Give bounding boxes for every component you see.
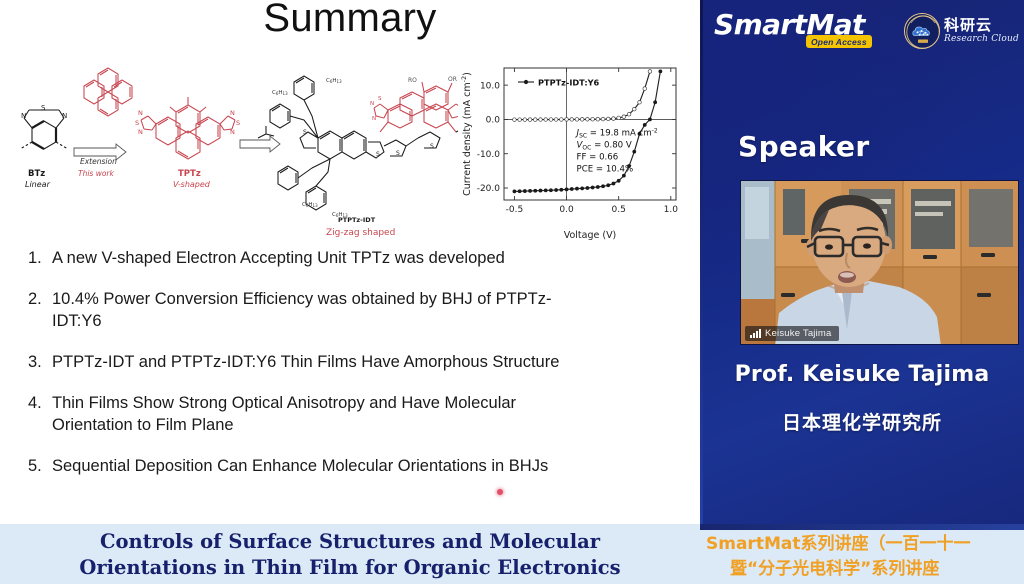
scheme-sublabel-btz: Linear bbox=[25, 180, 51, 189]
bullet-text: Sequential Deposition Can Enhance Molecu… bbox=[52, 456, 673, 478]
bottom-banner: Controls of Surface Structures and Molec… bbox=[0, 524, 1024, 584]
bullet-number: 2. bbox=[28, 289, 52, 311]
banner-accent-bar bbox=[700, 524, 1024, 530]
bullet-text: A new V-shaped Electron Accepting Unit T… bbox=[52, 248, 673, 270]
smartmat-logo: SmartMat Open Access bbox=[714, 8, 892, 54]
research-cloud-en-text: Research Cloud bbox=[944, 34, 1019, 44]
svg-text:-0.5: -0.5 bbox=[506, 205, 524, 215]
svg-text:N: N bbox=[230, 109, 235, 117]
speaker-affiliation: 日本理化学研究所 bbox=[700, 408, 1024, 435]
scheme-label-tptz: TPTz bbox=[178, 169, 201, 179]
scheme-sublabel-extension: This work bbox=[78, 169, 115, 178]
svg-text:0.5: 0.5 bbox=[612, 205, 626, 215]
series-title: SmartMat系列讲座（一百一十一 暨“分子光电科学”系列讲座 bbox=[700, 532, 1024, 581]
svg-text:1.0: 1.0 bbox=[664, 205, 679, 215]
broadcast-layout: Summary N N S bbox=[0, 0, 1024, 584]
svg-text:C6H13: C6H13 bbox=[332, 212, 348, 218]
bullet-text: Thin Films Show Strong Optical Anisotrop… bbox=[52, 393, 592, 437]
chart-y-axis-label: Current density (mA cm-2) bbox=[460, 72, 473, 196]
svg-text:0.0: 0.0 bbox=[559, 205, 574, 215]
svg-text:S: S bbox=[303, 129, 307, 136]
video-participant-name: Keisuke Tajima bbox=[765, 328, 832, 339]
svg-text:N: N bbox=[370, 101, 374, 107]
list-item: 4. Thin Films Show Strong Optical Anisot… bbox=[28, 393, 673, 437]
svg-text:S: S bbox=[430, 143, 434, 150]
scheme-label-extension: Extension bbox=[80, 157, 117, 166]
series-title-line2: 暨“分子光电科学”系列讲座 bbox=[700, 557, 1024, 582]
speaker-heading: Speaker bbox=[738, 130, 870, 163]
list-item: 2. 10.4% Power Conversion Efficiency was… bbox=[28, 289, 673, 333]
cloud-network-icon bbox=[904, 13, 940, 49]
svg-text:C6H13: C6H13 bbox=[326, 78, 342, 84]
svg-text:N: N bbox=[21, 112, 26, 120]
svg-text:S: S bbox=[236, 119, 240, 127]
open-access-badge: Open Access bbox=[806, 35, 872, 48]
svg-text:C6H13: C6H13 bbox=[302, 202, 318, 208]
svg-text:N: N bbox=[230, 128, 235, 136]
bullet-number: 3. bbox=[28, 352, 52, 374]
list-item: 3. PTPTz-IDT and PTPTz-IDT:Y6 Thin Films… bbox=[28, 352, 673, 374]
scheme-sublabel-ptptz-idt: Zig-zag shaped bbox=[326, 228, 395, 238]
scheme-label-btz: BTz bbox=[28, 169, 45, 179]
lecture-title-line1: Controls of Surface Structures and Molec… bbox=[100, 530, 600, 553]
svg-text:N: N bbox=[138, 128, 143, 136]
lecture-title-line2: Orientations in Thin Film for Organic El… bbox=[0, 555, 700, 581]
svg-text:S: S bbox=[376, 151, 380, 158]
svg-text:-10.0: -10.0 bbox=[477, 150, 501, 160]
laser-pointer-dot bbox=[497, 489, 503, 495]
page-title: Summary bbox=[0, 0, 700, 41]
video-participant-name-label: Keisuke Tajima bbox=[745, 326, 839, 341]
list-item: 5. Sequential Deposition Can Enhance Mol… bbox=[28, 456, 673, 478]
svg-text:10.0: 10.0 bbox=[480, 81, 500, 91]
reaction-scheme-figure: N N S bbox=[8, 58, 458, 238]
series-title-line1: SmartMat系列讲座（一百一十一 bbox=[700, 532, 1024, 557]
research-cloud-cn-text: 科研云 bbox=[944, 18, 1019, 34]
summary-bullet-list: 1. A new V-shaped Electron Accepting Uni… bbox=[28, 248, 673, 497]
svg-text:PTPTz-IDT:Y6: PTPTz-IDT:Y6 bbox=[538, 77, 600, 87]
svg-text:RO: RO bbox=[408, 77, 417, 84]
bullet-number: 5. bbox=[28, 456, 52, 478]
list-item: 1. A new V-shaped Electron Accepting Uni… bbox=[28, 248, 673, 270]
bullet-text: PTPTz-IDT and PTPTz-IDT:Y6 Thin Films Ha… bbox=[52, 352, 673, 374]
scheme-sublabel-tptz: V-shaped bbox=[173, 180, 211, 189]
svg-text:JSC = 19.8 mA cm-2: JSC = 19.8 mA cm-2 bbox=[575, 127, 658, 139]
svg-text:S: S bbox=[135, 119, 139, 127]
research-cloud-logo: 科研云 Research Cloud bbox=[904, 13, 1019, 49]
svg-text:N: N bbox=[62, 112, 67, 120]
svg-text:OR: OR bbox=[448, 76, 457, 83]
presentation-slide: Summary N N S bbox=[0, 0, 700, 524]
svg-text:S: S bbox=[41, 104, 46, 112]
svg-text:FF = 0.66: FF = 0.66 bbox=[577, 152, 619, 162]
lecture-title: Controls of Surface Structures and Molec… bbox=[0, 529, 700, 580]
brand-row: SmartMat Open Access bbox=[700, 8, 1024, 54]
bullet-text: 10.4% Power Conversion Efficiency was ob… bbox=[52, 289, 592, 333]
svg-text:S: S bbox=[378, 96, 382, 102]
svg-text:C6H13: C6H13 bbox=[272, 90, 288, 96]
svg-text:N: N bbox=[138, 109, 143, 117]
svg-text:N: N bbox=[372, 116, 376, 122]
jv-curve-chart: -0.50.00.51.010.00.0-10.0-20.0PTPTz-IDT:… bbox=[458, 60, 694, 245]
speaker-video-feed[interactable]: Keisuke Tajima bbox=[740, 180, 1019, 345]
svg-text:0.0: 0.0 bbox=[486, 116, 501, 126]
svg-text:-20.0: -20.0 bbox=[477, 184, 501, 194]
speaker-name: Prof. Keisuke Tajima bbox=[700, 362, 1024, 387]
svg-text:PCE = 10.4%: PCE = 10.4% bbox=[577, 164, 634, 174]
bullet-number: 1. bbox=[28, 248, 52, 270]
bullet-number: 4. bbox=[28, 393, 52, 415]
signal-bars-icon bbox=[750, 329, 761, 338]
chart-x-axis-label: Voltage (V) bbox=[564, 230, 617, 241]
svg-text:S: S bbox=[396, 150, 400, 157]
